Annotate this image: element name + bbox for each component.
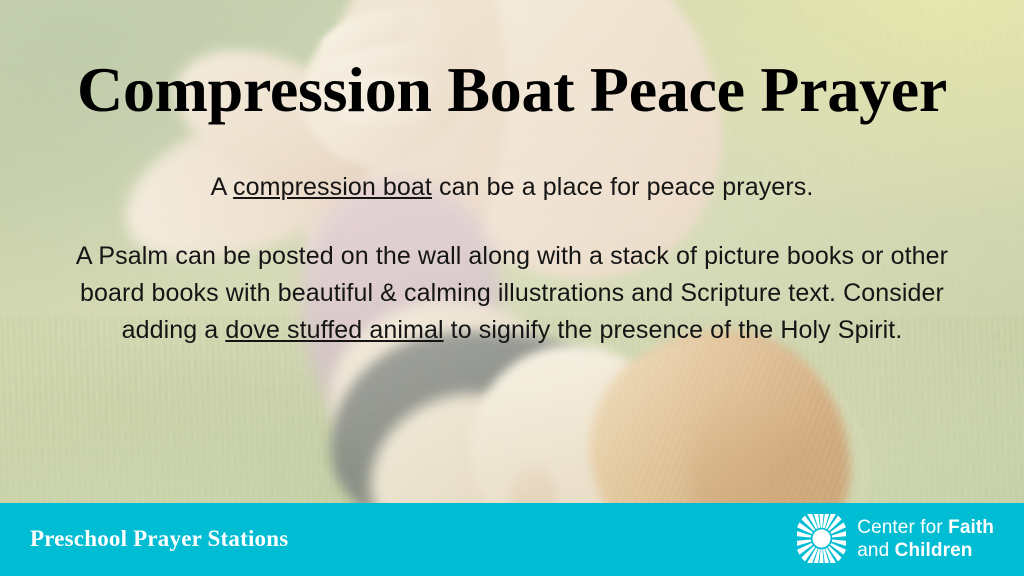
lede-link-compression-boat[interactable]: compression boat: [233, 173, 432, 201]
brand-logo-line2: and Children: [857, 539, 994, 562]
footer-bar: Preschool Prayer Stations: [0, 503, 1024, 576]
brand-line2-bold: Children: [895, 540, 973, 561]
sunburst-icon: [797, 514, 846, 563]
brand-line1-bold: Faith: [948, 517, 994, 538]
page-title: Compression Boat Peace Prayer: [0, 58, 1024, 122]
brand-logo-line1: Center for Faith: [857, 516, 994, 539]
lede-line: A compression boat can be a place for pe…: [0, 172, 1024, 203]
brand-logo-text: Center for Faith and Children: [857, 516, 994, 562]
brand-line2-light: and: [857, 540, 894, 561]
body-link-dove-stuffed-animal[interactable]: dove stuffed animal: [225, 316, 443, 344]
slide: Compression Boat Peace Prayer A compress…: [0, 0, 1024, 576]
lede-text-after: can be a place for peace prayers.: [432, 173, 813, 201]
brand-line1-light: Center for: [857, 517, 948, 538]
series-title: Preschool Prayer Stations: [30, 526, 288, 552]
body-text-part2: to signify the presence of the Holy Spir…: [444, 316, 903, 344]
brand-logo[interactable]: Center for Faith and Children: [797, 514, 994, 563]
body-paragraph: A Psalm can be posted on the wall along …: [62, 238, 962, 349]
lede-text-before: A: [211, 173, 233, 201]
